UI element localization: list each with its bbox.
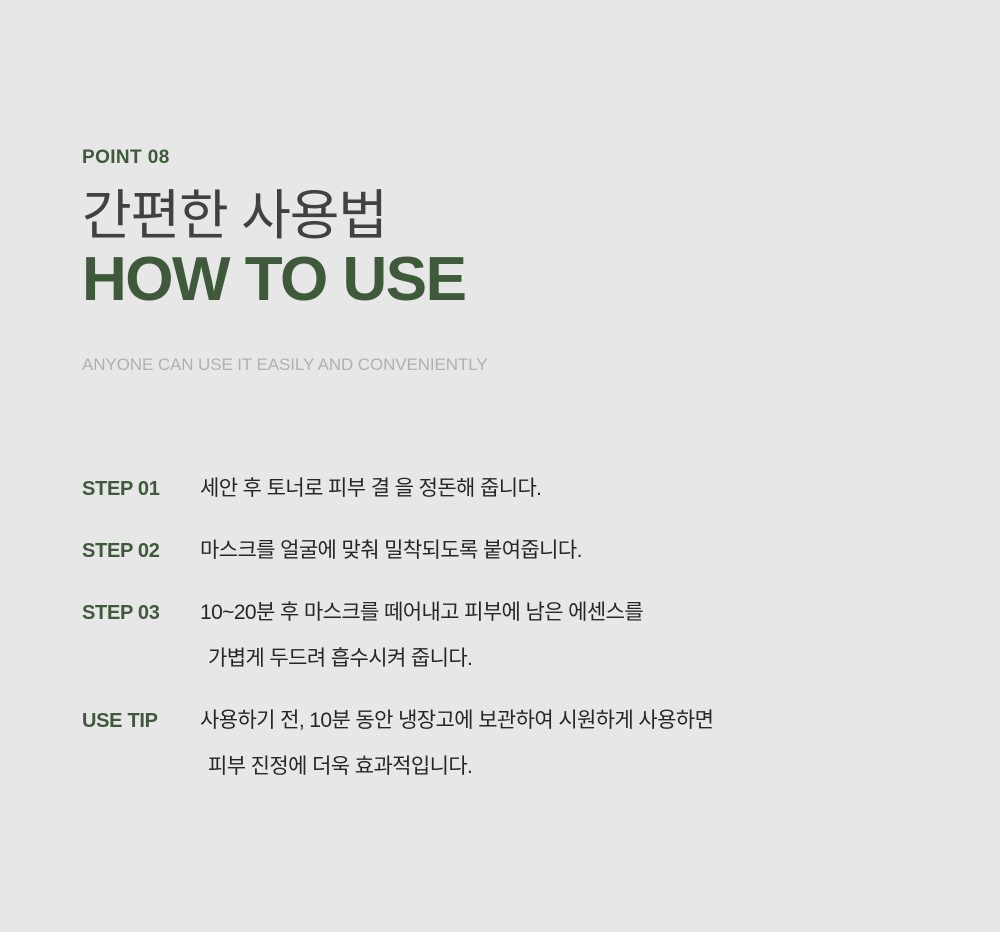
step-body: 세안 후 토너로 피부 결 을 정돈해 줍니다. — [186, 474, 942, 504]
use-tip-row: USE TIP 사용하기 전, 10분 동안 냉장고에 보관하여 시원하게 사용… — [82, 706, 942, 782]
step-body: 마스크를 얼굴에 맞춰 밀착되도록 붙여줍니다. — [186, 536, 942, 566]
use-tip-label: USE TIP — [82, 706, 186, 736]
header-block: POINT 08 간편한 사용법 HOW TO USE ANYONE CAN U… — [82, 148, 882, 373]
use-tip-body: 사용하기 전, 10분 동안 냉장고에 보관하여 시원하게 사용하면 피부 진정… — [186, 706, 942, 782]
page-subtitle: ANYONE CAN USE IT EASILY AND CONVENIENTL… — [82, 356, 882, 373]
step-label: STEP 01 — [82, 474, 186, 504]
use-tip-text-line: 피부 진정에 더욱 효과적입니다. — [200, 752, 942, 782]
page-title-english: HOW TO USE — [82, 247, 882, 312]
step-label: STEP 03 — [82, 598, 186, 628]
step-text-line: 세안 후 토너로 피부 결 을 정돈해 줍니다. — [200, 474, 942, 504]
step-text-line: 가볍게 두드려 흡수시켜 줍니다. — [200, 644, 942, 674]
step-row: STEP 03 10~20분 후 마스크를 떼어내고 피부에 남은 에센스를 가… — [82, 598, 942, 674]
steps-list: STEP 01 세안 후 토너로 피부 결 을 정돈해 줍니다. STEP 02… — [82, 474, 942, 782]
how-to-use-page: POINT 08 간편한 사용법 HOW TO USE ANYONE CAN U… — [0, 0, 1000, 932]
step-row: STEP 01 세안 후 토너로 피부 결 을 정돈해 줍니다. — [82, 474, 942, 504]
use-tip-text-line: 사용하기 전, 10분 동안 냉장고에 보관하여 시원하게 사용하면 — [200, 706, 942, 736]
step-text-line: 10~20분 후 마스크를 떼어내고 피부에 남은 에센스를 — [200, 598, 942, 628]
step-row: STEP 02 마스크를 얼굴에 맞춰 밀착되도록 붙여줍니다. — [82, 536, 942, 566]
point-label: POINT 08 — [82, 148, 882, 167]
step-body: 10~20분 후 마스크를 떼어내고 피부에 남은 에센스를 가볍게 두드려 흡… — [186, 598, 942, 674]
step-label: STEP 02 — [82, 536, 186, 566]
step-text-line: 마스크를 얼굴에 맞춰 밀착되도록 붙여줍니다. — [200, 536, 942, 566]
page-title-korean: 간편한 사용법 — [82, 187, 882, 245]
